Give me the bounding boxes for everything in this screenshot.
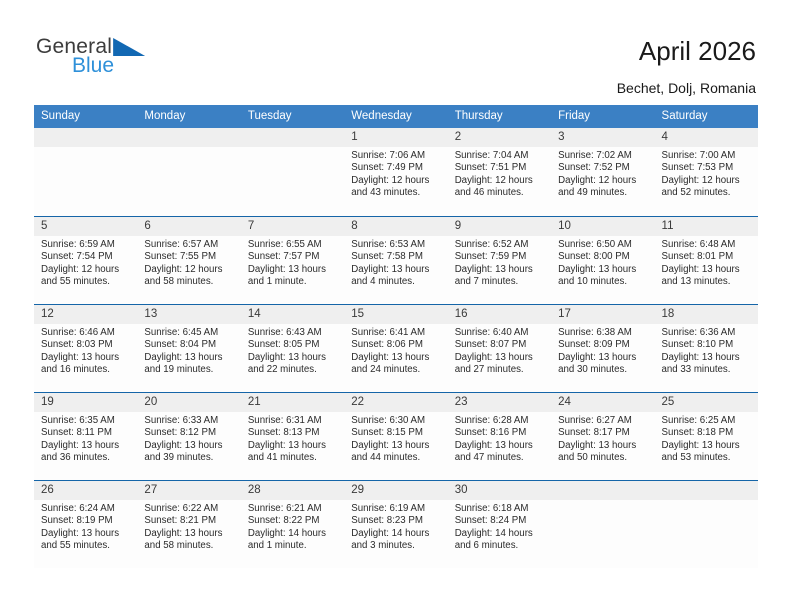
page-header: General Blue April 2026 Bechet, Dolj, Ro… xyxy=(0,0,792,100)
daylight-text-line2: and 52 minutes. xyxy=(662,187,752,199)
day-details: Sunrise: 6:31 AMSunset: 8:13 PMDaylight:… xyxy=(241,412,344,465)
day-cell-empty xyxy=(34,128,137,216)
sunset-text: Sunset: 7:54 PM xyxy=(41,251,131,263)
day-details: Sunrise: 6:27 AMSunset: 8:17 PMDaylight:… xyxy=(551,412,654,465)
day-number: 12 xyxy=(34,305,137,324)
daylight-text-line1: Daylight: 13 hours xyxy=(248,352,338,364)
daylight-text-line1: Daylight: 12 hours xyxy=(144,264,234,276)
day-details: Sunrise: 6:52 AMSunset: 7:59 PMDaylight:… xyxy=(448,236,551,289)
daylight-text-line2: and 10 minutes. xyxy=(558,276,648,288)
sunrise-text: Sunrise: 6:22 AM xyxy=(144,503,234,515)
sunset-text: Sunset: 8:10 PM xyxy=(662,339,752,351)
sunset-text: Sunset: 8:11 PM xyxy=(41,427,131,439)
sunset-text: Sunset: 8:21 PM xyxy=(144,515,234,527)
weekday-header-wednesday: Wednesday xyxy=(344,105,447,128)
daylight-text-line2: and 58 minutes. xyxy=(144,276,234,288)
daylight-text-line1: Daylight: 13 hours xyxy=(41,528,131,540)
calendar-cell xyxy=(137,128,240,216)
day-number: 19 xyxy=(34,393,137,412)
daylight-text-line1: Daylight: 14 hours xyxy=(248,528,338,540)
day-cell-empty xyxy=(241,128,344,216)
day-details: Sunrise: 6:36 AMSunset: 8:10 PMDaylight:… xyxy=(655,324,758,377)
sunset-text: Sunset: 8:23 PM xyxy=(351,515,441,527)
weekday-header-friday: Friday xyxy=(551,105,654,128)
daylight-text-line1: Daylight: 13 hours xyxy=(248,440,338,452)
daylight-text-line2: and 7 minutes. xyxy=(455,276,545,288)
calendar-cell: 8Sunrise: 6:53 AMSunset: 7:58 PMDaylight… xyxy=(344,216,447,304)
daylight-text-line2: and 36 minutes. xyxy=(41,452,131,464)
day-details: Sunrise: 7:04 AMSunset: 7:51 PMDaylight:… xyxy=(448,147,551,200)
daylight-text-line1: Daylight: 13 hours xyxy=(662,264,752,276)
day-number xyxy=(34,128,137,147)
daylight-text-line2: and 1 minute. xyxy=(248,540,338,552)
day-details: Sunrise: 6:50 AMSunset: 8:00 PMDaylight:… xyxy=(551,236,654,289)
sunrise-text: Sunrise: 6:25 AM xyxy=(662,415,752,427)
day-number: 27 xyxy=(137,481,240,500)
calendar-cell: 6Sunrise: 6:57 AMSunset: 7:55 PMDaylight… xyxy=(137,216,240,304)
day-number: 15 xyxy=(344,305,447,324)
day-details: Sunrise: 6:33 AMSunset: 8:12 PMDaylight:… xyxy=(137,412,240,465)
daylight-text-line2: and 24 minutes. xyxy=(351,364,441,376)
calendar-cell: 3Sunrise: 7:02 AMSunset: 7:52 PMDaylight… xyxy=(551,128,654,216)
calendar-week-row: 12Sunrise: 6:46 AMSunset: 8:03 PMDayligh… xyxy=(34,304,758,392)
day-details: Sunrise: 6:48 AMSunset: 8:01 PMDaylight:… xyxy=(655,236,758,289)
sunset-text: Sunset: 7:57 PM xyxy=(248,251,338,263)
sunset-text: Sunset: 8:01 PM xyxy=(662,251,752,263)
sunrise-sunset-calendar: Sunday Monday Tuesday Wednesday Thursday… xyxy=(34,105,758,568)
calendar-week-row: 26Sunrise: 6:24 AMSunset: 8:19 PMDayligh… xyxy=(34,480,758,568)
logo-blue-text: Blue xyxy=(72,55,145,76)
sunrise-text: Sunrise: 6:59 AM xyxy=(41,239,131,251)
calendar-cell: 22Sunrise: 6:30 AMSunset: 8:15 PMDayligh… xyxy=(344,392,447,480)
day-cell[interactable]: 10Sunrise: 6:50 AMSunset: 8:00 PMDayligh… xyxy=(551,216,654,304)
calendar-cell: 21Sunrise: 6:31 AMSunset: 8:13 PMDayligh… xyxy=(241,392,344,480)
day-number: 9 xyxy=(448,217,551,236)
day-number: 13 xyxy=(137,305,240,324)
daylight-text-line1: Daylight: 12 hours xyxy=(41,264,131,276)
weekday-header-saturday: Saturday xyxy=(655,105,758,128)
daylight-text-line1: Daylight: 13 hours xyxy=(41,440,131,452)
day-cell[interactable]: 20Sunrise: 6:33 AMSunset: 8:12 PMDayligh… xyxy=(137,392,240,480)
daylight-text-line2: and 4 minutes. xyxy=(351,276,441,288)
day-cell[interactable]: 8Sunrise: 6:53 AMSunset: 7:58 PMDaylight… xyxy=(344,216,447,304)
daylight-text-line1: Daylight: 13 hours xyxy=(558,352,648,364)
day-details: Sunrise: 6:57 AMSunset: 7:55 PMDaylight:… xyxy=(137,236,240,289)
day-number: 1 xyxy=(344,128,447,147)
sunset-text: Sunset: 8:06 PM xyxy=(351,339,441,351)
calendar-cell: 28Sunrise: 6:21 AMSunset: 8:22 PMDayligh… xyxy=(241,480,344,568)
day-number: 30 xyxy=(448,481,551,500)
calendar-cell: 18Sunrise: 6:36 AMSunset: 8:10 PMDayligh… xyxy=(655,304,758,392)
day-details: Sunrise: 6:41 AMSunset: 8:06 PMDaylight:… xyxy=(344,324,447,377)
daylight-text-line2: and 49 minutes. xyxy=(558,187,648,199)
sunset-text: Sunset: 7:58 PM xyxy=(351,251,441,263)
sunset-text: Sunset: 7:53 PM xyxy=(662,162,752,174)
day-cell[interactable]: 1Sunrise: 7:06 AMSunset: 7:49 PMDaylight… xyxy=(344,128,447,216)
day-number: 23 xyxy=(448,393,551,412)
day-cell[interactable]: 23Sunrise: 6:28 AMSunset: 8:16 PMDayligh… xyxy=(448,392,551,480)
daylight-text-line1: Daylight: 12 hours xyxy=(351,175,441,187)
day-cell[interactable]: 11Sunrise: 6:48 AMSunset: 8:01 PMDayligh… xyxy=(655,216,758,304)
day-number: 29 xyxy=(344,481,447,500)
day-cell[interactable]: 21Sunrise: 6:31 AMSunset: 8:13 PMDayligh… xyxy=(241,392,344,480)
sunset-text: Sunset: 7:49 PM xyxy=(351,162,441,174)
daylight-text-line1: Daylight: 13 hours xyxy=(351,352,441,364)
daylight-text-line2: and 30 minutes. xyxy=(558,364,648,376)
daylight-text-line1: Daylight: 13 hours xyxy=(558,264,648,276)
calendar-cell: 10Sunrise: 6:50 AMSunset: 8:00 PMDayligh… xyxy=(551,216,654,304)
sunrise-text: Sunrise: 6:28 AM xyxy=(455,415,545,427)
day-number: 14 xyxy=(241,305,344,324)
sunset-text: Sunset: 8:19 PM xyxy=(41,515,131,527)
daylight-text-line2: and 13 minutes. xyxy=(662,276,752,288)
daylight-text-line2: and 22 minutes. xyxy=(248,364,338,376)
daylight-text-line2: and 46 minutes. xyxy=(455,187,545,199)
sunset-text: Sunset: 8:07 PM xyxy=(455,339,545,351)
daylight-text-line2: and 50 minutes. xyxy=(558,452,648,464)
calendar-cell: 29Sunrise: 6:19 AMSunset: 8:23 PMDayligh… xyxy=(344,480,447,568)
daylight-text-line1: Daylight: 14 hours xyxy=(455,528,545,540)
daylight-text-line1: Daylight: 13 hours xyxy=(351,440,441,452)
daylight-text-line2: and 53 minutes. xyxy=(662,452,752,464)
sunrise-text: Sunrise: 6:50 AM xyxy=(558,239,648,251)
sunrise-text: Sunrise: 6:45 AM xyxy=(144,327,234,339)
sunrise-text: Sunrise: 6:55 AM xyxy=(248,239,338,251)
day-number: 10 xyxy=(551,217,654,236)
day-cell[interactable]: 9Sunrise: 6:52 AMSunset: 7:59 PMDaylight… xyxy=(448,216,551,304)
sunrise-text: Sunrise: 6:52 AM xyxy=(455,239,545,251)
day-details: Sunrise: 6:28 AMSunset: 8:16 PMDaylight:… xyxy=(448,412,551,465)
sunset-text: Sunset: 7:51 PM xyxy=(455,162,545,174)
daylight-text-line1: Daylight: 13 hours xyxy=(144,352,234,364)
calendar-page: General Blue April 2026 Bechet, Dolj, Ro… xyxy=(0,0,792,612)
calendar-cell: 11Sunrise: 6:48 AMSunset: 8:01 PMDayligh… xyxy=(655,216,758,304)
day-cell[interactable]: 27Sunrise: 6:22 AMSunset: 8:21 PMDayligh… xyxy=(137,480,240,568)
day-number: 2 xyxy=(448,128,551,147)
day-cell[interactable]: 18Sunrise: 6:36 AMSunset: 8:10 PMDayligh… xyxy=(655,304,758,392)
sunrise-text: Sunrise: 6:57 AM xyxy=(144,239,234,251)
day-details: Sunrise: 6:19 AMSunset: 8:23 PMDaylight:… xyxy=(344,500,447,553)
sunset-text: Sunset: 8:04 PM xyxy=(144,339,234,351)
sunrise-text: Sunrise: 6:35 AM xyxy=(41,415,131,427)
calendar-cell: 20Sunrise: 6:33 AMSunset: 8:12 PMDayligh… xyxy=(137,392,240,480)
day-details: Sunrise: 6:21 AMSunset: 8:22 PMDaylight:… xyxy=(241,500,344,553)
weekday-header-sunday: Sunday xyxy=(34,105,137,128)
sunrise-text: Sunrise: 6:21 AM xyxy=(248,503,338,515)
daylight-text-line1: Daylight: 12 hours xyxy=(455,175,545,187)
day-number: 7 xyxy=(241,217,344,236)
calendar-cell: 19Sunrise: 6:35 AMSunset: 8:11 PMDayligh… xyxy=(34,392,137,480)
daylight-text-line1: Daylight: 14 hours xyxy=(351,528,441,540)
calendar-cell: 15Sunrise: 6:41 AMSunset: 8:06 PMDayligh… xyxy=(344,304,447,392)
day-number xyxy=(655,481,758,500)
daylight-text-line2: and 27 minutes. xyxy=(455,364,545,376)
day-number: 11 xyxy=(655,217,758,236)
sunset-text: Sunset: 8:18 PM xyxy=(662,427,752,439)
sunrise-text: Sunrise: 6:43 AM xyxy=(248,327,338,339)
sunset-text: Sunset: 7:59 PM xyxy=(455,251,545,263)
daylight-text-line1: Daylight: 12 hours xyxy=(662,175,752,187)
day-cell-empty xyxy=(551,480,654,568)
day-details: Sunrise: 6:35 AMSunset: 8:11 PMDaylight:… xyxy=(34,412,137,465)
day-details: Sunrise: 6:55 AMSunset: 7:57 PMDaylight:… xyxy=(241,236,344,289)
day-details: Sunrise: 6:18 AMSunset: 8:24 PMDaylight:… xyxy=(448,500,551,553)
daylight-text-line1: Daylight: 13 hours xyxy=(41,352,131,364)
calendar-cell: 14Sunrise: 6:43 AMSunset: 8:05 PMDayligh… xyxy=(241,304,344,392)
daylight-text-line2: and 41 minutes. xyxy=(248,452,338,464)
calendar-cell: 5Sunrise: 6:59 AMSunset: 7:54 PMDaylight… xyxy=(34,216,137,304)
day-details: Sunrise: 7:02 AMSunset: 7:52 PMDaylight:… xyxy=(551,147,654,200)
calendar-cell: 23Sunrise: 6:28 AMSunset: 8:16 PMDayligh… xyxy=(448,392,551,480)
day-number: 5 xyxy=(34,217,137,236)
daylight-text-line2: and 3 minutes. xyxy=(351,540,441,552)
day-details: Sunrise: 6:25 AMSunset: 8:18 PMDaylight:… xyxy=(655,412,758,465)
day-details: Sunrise: 6:45 AMSunset: 8:04 PMDaylight:… xyxy=(137,324,240,377)
day-details: Sunrise: 6:24 AMSunset: 8:19 PMDaylight:… xyxy=(34,500,137,553)
daylight-text-line1: Daylight: 13 hours xyxy=(248,264,338,276)
sunset-text: Sunset: 7:52 PM xyxy=(558,162,648,174)
calendar-cell xyxy=(551,480,654,568)
sunrise-text: Sunrise: 6:36 AM xyxy=(662,327,752,339)
sunset-text: Sunset: 8:15 PM xyxy=(351,427,441,439)
day-number: 6 xyxy=(137,217,240,236)
day-cell[interactable]: 17Sunrise: 6:38 AMSunset: 8:09 PMDayligh… xyxy=(551,304,654,392)
daylight-text-line1: Daylight: 13 hours xyxy=(351,264,441,276)
sunset-text: Sunset: 8:24 PM xyxy=(455,515,545,527)
daylight-text-line2: and 39 minutes. xyxy=(144,452,234,464)
sunrise-text: Sunrise: 6:53 AM xyxy=(351,239,441,251)
daylight-text-line2: and 19 minutes. xyxy=(144,364,234,376)
sunset-text: Sunset: 8:17 PM xyxy=(558,427,648,439)
daylight-text-line2: and 44 minutes. xyxy=(351,452,441,464)
day-cell[interactable]: 29Sunrise: 6:19 AMSunset: 8:23 PMDayligh… xyxy=(344,480,447,568)
day-number: 20 xyxy=(137,393,240,412)
calendar-cell: 7Sunrise: 6:55 AMSunset: 7:57 PMDaylight… xyxy=(241,216,344,304)
calendar-cell: 13Sunrise: 6:45 AMSunset: 8:04 PMDayligh… xyxy=(137,304,240,392)
day-details: Sunrise: 6:38 AMSunset: 8:09 PMDaylight:… xyxy=(551,324,654,377)
day-cell-empty xyxy=(655,480,758,568)
calendar-cell: 16Sunrise: 6:40 AMSunset: 8:07 PMDayligh… xyxy=(448,304,551,392)
sunset-text: Sunset: 8:12 PM xyxy=(144,427,234,439)
triangle-icon xyxy=(113,38,145,56)
daylight-text-line2: and 1 minute. xyxy=(248,276,338,288)
daylight-text-line1: Daylight: 13 hours xyxy=(558,440,648,452)
day-number: 16 xyxy=(448,305,551,324)
sunrise-text: Sunrise: 6:18 AM xyxy=(455,503,545,515)
calendar-week-row: 1Sunrise: 7:06 AMSunset: 7:49 PMDaylight… xyxy=(34,128,758,216)
day-number: 21 xyxy=(241,393,344,412)
sunset-text: Sunset: 8:09 PM xyxy=(558,339,648,351)
day-details: Sunrise: 6:22 AMSunset: 8:21 PMDaylight:… xyxy=(137,500,240,553)
calendar-cell xyxy=(34,128,137,216)
sunset-text: Sunset: 8:13 PM xyxy=(248,427,338,439)
calendar-cell xyxy=(241,128,344,216)
day-number: 8 xyxy=(344,217,447,236)
sunrise-text: Sunrise: 6:38 AM xyxy=(558,327,648,339)
day-cell[interactable]: 12Sunrise: 6:46 AMSunset: 8:03 PMDayligh… xyxy=(34,304,137,392)
day-cell-empty xyxy=(137,128,240,216)
day-cell[interactable]: 6Sunrise: 6:57 AMSunset: 7:55 PMDaylight… xyxy=(137,216,240,304)
day-number: 24 xyxy=(551,393,654,412)
day-number: 18 xyxy=(655,305,758,324)
sunset-text: Sunset: 8:22 PM xyxy=(248,515,338,527)
page-subtitle: Bechet, Dolj, Romania xyxy=(617,80,756,96)
calendar-cell: 12Sunrise: 6:46 AMSunset: 8:03 PMDayligh… xyxy=(34,304,137,392)
day-number: 22 xyxy=(344,393,447,412)
general-blue-logo: General Blue xyxy=(36,36,145,76)
sunrise-text: Sunrise: 6:40 AM xyxy=(455,327,545,339)
weekday-header-row: Sunday Monday Tuesday Wednesday Thursday… xyxy=(34,105,758,128)
day-details: Sunrise: 6:30 AMSunset: 8:15 PMDaylight:… xyxy=(344,412,447,465)
calendar-cell: 27Sunrise: 6:22 AMSunset: 8:21 PMDayligh… xyxy=(137,480,240,568)
day-details: Sunrise: 6:43 AMSunset: 8:05 PMDaylight:… xyxy=(241,324,344,377)
day-cell[interactable]: 4Sunrise: 7:00 AMSunset: 7:53 PMDaylight… xyxy=(655,128,758,216)
day-number xyxy=(241,128,344,147)
day-details: Sunrise: 6:53 AMSunset: 7:58 PMDaylight:… xyxy=(344,236,447,289)
calendar-cell: 30Sunrise: 6:18 AMSunset: 8:24 PMDayligh… xyxy=(448,480,551,568)
day-cell[interactable]: 5Sunrise: 6:59 AMSunset: 7:54 PMDaylight… xyxy=(34,216,137,304)
daylight-text-line1: Daylight: 13 hours xyxy=(662,440,752,452)
page-title: April 2026 xyxy=(639,36,756,67)
daylight-text-line1: Daylight: 13 hours xyxy=(144,440,234,452)
calendar-cell: 1Sunrise: 7:06 AMSunset: 7:49 PMDaylight… xyxy=(344,128,447,216)
sunrise-text: Sunrise: 6:30 AM xyxy=(351,415,441,427)
weekday-header-thursday: Thursday xyxy=(448,105,551,128)
day-cell[interactable]: 14Sunrise: 6:43 AMSunset: 8:05 PMDayligh… xyxy=(241,304,344,392)
calendar-cell: 4Sunrise: 7:00 AMSunset: 7:53 PMDaylight… xyxy=(655,128,758,216)
sunrise-text: Sunrise: 7:00 AM xyxy=(662,150,752,162)
day-cell[interactable]: 28Sunrise: 6:21 AMSunset: 8:22 PMDayligh… xyxy=(241,480,344,568)
calendar-body: 1Sunrise: 7:06 AMSunset: 7:49 PMDaylight… xyxy=(34,128,758,568)
daylight-text-line2: and 33 minutes. xyxy=(662,364,752,376)
sunrise-text: Sunrise: 6:31 AM xyxy=(248,415,338,427)
day-number xyxy=(551,481,654,500)
daylight-text-line2: and 55 minutes. xyxy=(41,540,131,552)
day-cell[interactable]: 7Sunrise: 6:55 AMSunset: 7:57 PMDaylight… xyxy=(241,216,344,304)
day-cell[interactable]: 13Sunrise: 6:45 AMSunset: 8:04 PMDayligh… xyxy=(137,304,240,392)
sunset-text: Sunset: 7:55 PM xyxy=(144,251,234,263)
weekday-header-tuesday: Tuesday xyxy=(241,105,344,128)
day-details: Sunrise: 6:59 AMSunset: 7:54 PMDaylight:… xyxy=(34,236,137,289)
day-details: Sunrise: 6:46 AMSunset: 8:03 PMDaylight:… xyxy=(34,324,137,377)
daylight-text-line1: Daylight: 13 hours xyxy=(455,352,545,364)
calendar-cell: 26Sunrise: 6:24 AMSunset: 8:19 PMDayligh… xyxy=(34,480,137,568)
sunrise-text: Sunrise: 7:02 AM xyxy=(558,150,648,162)
weekday-header-monday: Monday xyxy=(137,105,240,128)
daylight-text-line1: Daylight: 13 hours xyxy=(455,264,545,276)
calendar-week-row: 5Sunrise: 6:59 AMSunset: 7:54 PMDaylight… xyxy=(34,216,758,304)
calendar-cell: 9Sunrise: 6:52 AMSunset: 7:59 PMDaylight… xyxy=(448,216,551,304)
sunset-text: Sunset: 8:16 PM xyxy=(455,427,545,439)
day-number: 28 xyxy=(241,481,344,500)
daylight-text-line2: and 58 minutes. xyxy=(144,540,234,552)
sunrise-text: Sunrise: 7:06 AM xyxy=(351,150,441,162)
calendar-cell: 24Sunrise: 6:27 AMSunset: 8:17 PMDayligh… xyxy=(551,392,654,480)
day-number xyxy=(137,128,240,147)
daylight-text-line2: and 6 minutes. xyxy=(455,540,545,552)
sunset-text: Sunset: 8:05 PM xyxy=(248,339,338,351)
daylight-text-line1: Daylight: 13 hours xyxy=(662,352,752,364)
day-cell[interactable]: 30Sunrise: 6:18 AMSunset: 8:24 PMDayligh… xyxy=(448,480,551,568)
day-cell[interactable]: 22Sunrise: 6:30 AMSunset: 8:15 PMDayligh… xyxy=(344,392,447,480)
sunrise-text: Sunrise: 6:19 AM xyxy=(351,503,441,515)
calendar-week-row: 19Sunrise: 6:35 AMSunset: 8:11 PMDayligh… xyxy=(34,392,758,480)
day-details: Sunrise: 7:06 AMSunset: 7:49 PMDaylight:… xyxy=(344,147,447,200)
day-details: Sunrise: 7:00 AMSunset: 7:53 PMDaylight:… xyxy=(655,147,758,200)
day-cell[interactable]: 15Sunrise: 6:41 AMSunset: 8:06 PMDayligh… xyxy=(344,304,447,392)
calendar-cell xyxy=(655,480,758,568)
day-cell[interactable]: 3Sunrise: 7:02 AMSunset: 7:52 PMDaylight… xyxy=(551,128,654,216)
day-number: 25 xyxy=(655,393,758,412)
day-number: 3 xyxy=(551,128,654,147)
sunrise-text: Sunrise: 7:04 AM xyxy=(455,150,545,162)
calendar-cell: 25Sunrise: 6:25 AMSunset: 8:18 PMDayligh… xyxy=(655,392,758,480)
calendar-cell: 2Sunrise: 7:04 AMSunset: 7:51 PMDaylight… xyxy=(448,128,551,216)
day-cell[interactable]: 25Sunrise: 6:25 AMSunset: 8:18 PMDayligh… xyxy=(655,392,758,480)
daylight-text-line1: Daylight: 13 hours xyxy=(455,440,545,452)
daylight-text-line2: and 55 minutes. xyxy=(41,276,131,288)
sunrise-text: Sunrise: 6:46 AM xyxy=(41,327,131,339)
day-details: Sunrise: 6:40 AMSunset: 8:07 PMDaylight:… xyxy=(448,324,551,377)
sunrise-text: Sunrise: 6:27 AM xyxy=(558,415,648,427)
sunrise-text: Sunrise: 6:48 AM xyxy=(662,239,752,251)
day-cell[interactable]: 2Sunrise: 7:04 AMSunset: 7:51 PMDaylight… xyxy=(448,128,551,216)
calendar-cell: 17Sunrise: 6:38 AMSunset: 8:09 PMDayligh… xyxy=(551,304,654,392)
daylight-text-line1: Daylight: 12 hours xyxy=(558,175,648,187)
daylight-text-line2: and 16 minutes. xyxy=(41,364,131,376)
daylight-text-line1: Daylight: 13 hours xyxy=(144,528,234,540)
daylight-text-line2: and 43 minutes. xyxy=(351,187,441,199)
sunrise-text: Sunrise: 6:41 AM xyxy=(351,327,441,339)
daylight-text-line2: and 47 minutes. xyxy=(455,452,545,464)
day-cell[interactable]: 16Sunrise: 6:40 AMSunset: 8:07 PMDayligh… xyxy=(448,304,551,392)
day-cell[interactable]: 24Sunrise: 6:27 AMSunset: 8:17 PMDayligh… xyxy=(551,392,654,480)
day-number: 17 xyxy=(551,305,654,324)
day-cell[interactable]: 19Sunrise: 6:35 AMSunset: 8:11 PMDayligh… xyxy=(34,392,137,480)
sunset-text: Sunset: 8:00 PM xyxy=(558,251,648,263)
day-number: 4 xyxy=(655,128,758,147)
sunrise-text: Sunrise: 6:33 AM xyxy=(144,415,234,427)
sunrise-text: Sunrise: 6:24 AM xyxy=(41,503,131,515)
day-number: 26 xyxy=(34,481,137,500)
day-cell[interactable]: 26Sunrise: 6:24 AMSunset: 8:19 PMDayligh… xyxy=(34,480,137,568)
sunset-text: Sunset: 8:03 PM xyxy=(41,339,131,351)
